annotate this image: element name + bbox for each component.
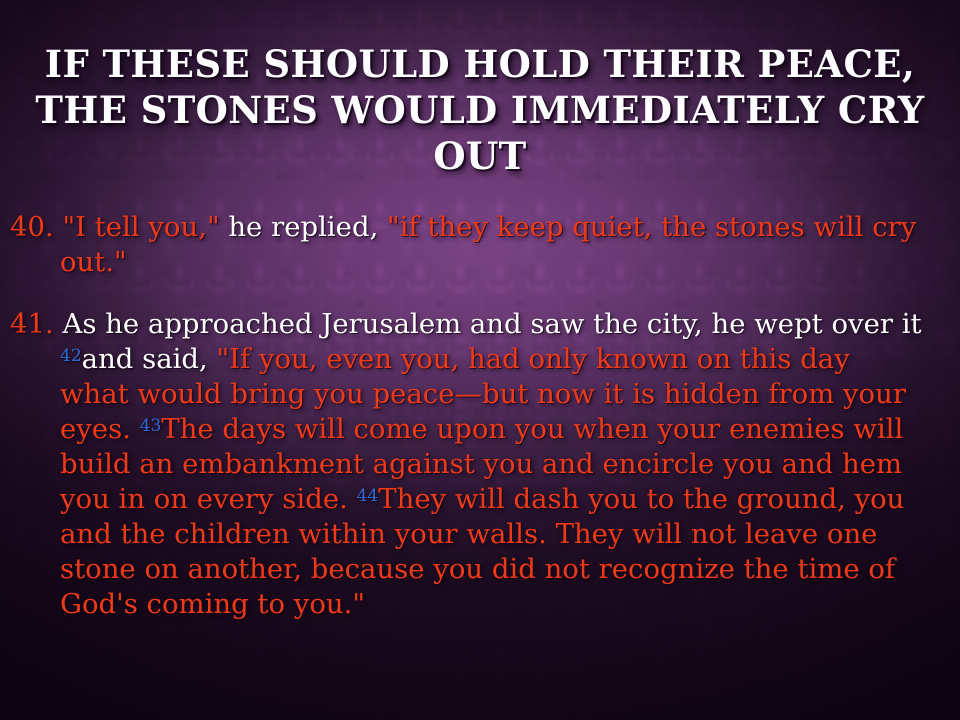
verse-paragraph: 41. As he approached Jerusalem and saw t… xyxy=(10,307,926,622)
verse-text-segment: As he approached Jerusalem and saw the c… xyxy=(62,308,921,340)
verse-text-segment: he replied, xyxy=(228,211,387,243)
verse-paragraph: 40. "I tell you," he replied, "if they k… xyxy=(10,210,926,280)
verse-marker-superscript: 44 xyxy=(357,486,379,506)
verse-marker-superscript: 43 xyxy=(140,416,162,436)
presentation-slide: If these should hold their peace, the st… xyxy=(0,0,960,720)
slide-title: If these should hold their peace, the st… xyxy=(24,41,936,179)
verse-marker-superscript: 42 xyxy=(60,346,82,366)
verse-number: 40. xyxy=(10,211,54,243)
scripture-body: 40. "I tell you," he replied, "if they k… xyxy=(10,182,926,650)
verse-number: 41. xyxy=(10,308,54,340)
verse-text-segment: "I tell you," xyxy=(62,211,228,243)
slide-content: If these should hold their peace, the st… xyxy=(0,0,960,720)
verse-text-segment: and said, xyxy=(82,343,217,375)
